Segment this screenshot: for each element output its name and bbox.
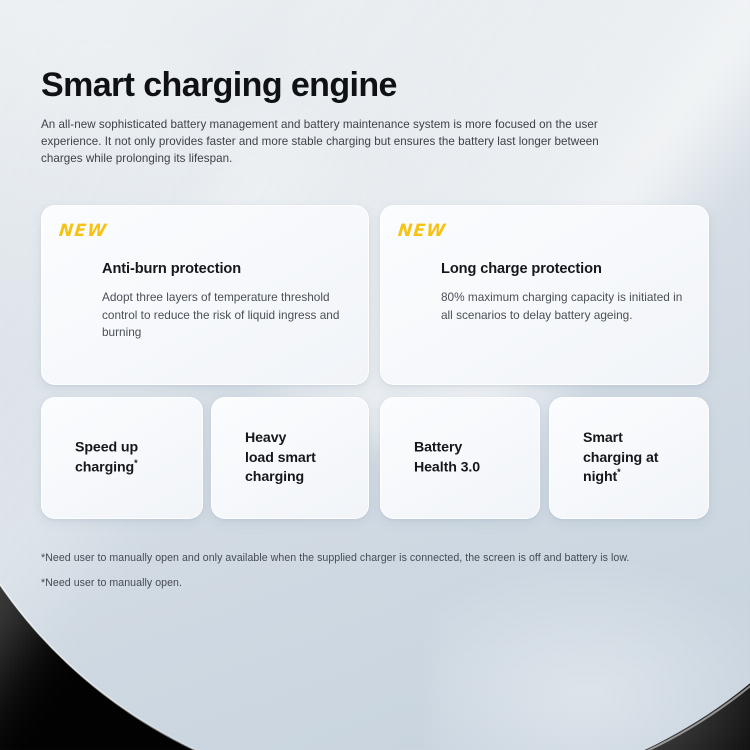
footnote-marker: * (617, 467, 620, 477)
page-intro-text: An all-new sophisticated battery managem… (41, 116, 617, 168)
label-line-3: night (583, 469, 617, 485)
label-line-2: charging (75, 459, 134, 475)
feature-card-label: Smart charging at night* (583, 429, 698, 488)
feature-card-body: 80% maximum charging capacity is initiat… (441, 289, 685, 324)
label-line-1: Smart (583, 430, 623, 446)
footnote-marker: * (134, 457, 137, 467)
feature-card-label: Heavy load smart charging (245, 429, 360, 488)
label-line-1: Heavy (245, 430, 286, 446)
feature-card-smart-charging-at-night[interactable]: Smart charging at night* (549, 397, 709, 519)
label-line-2: load smart (245, 449, 316, 465)
content-layer: Smart charging engine An all-new sophist… (0, 0, 750, 750)
feature-card-label: Battery Health 3.0 (414, 439, 534, 478)
feature-card-anti-burn-protection[interactable]: NEW Anti-burn protection Adopt three lay… (41, 205, 369, 385)
label-line-1: Battery (414, 440, 462, 456)
feature-card-battery-health[interactable]: Battery Health 3.0 (380, 397, 540, 519)
footnote-2: *Need user to manually open. (41, 575, 713, 591)
label-line-2: Health 3.0 (414, 459, 480, 475)
label-line-3: charging (245, 469, 304, 485)
feature-card-title: Anti-burn protection (102, 261, 241, 277)
feature-card-long-charge-protection[interactable]: NEW Long charge protection 80% maximum c… (380, 205, 709, 385)
label-line-1: Speed up (75, 440, 138, 456)
feature-card-speed-up-charging[interactable]: Speed up charging* (41, 397, 203, 519)
new-badge: NEW (58, 221, 108, 241)
footnotes-block: *Need user to manually open and only ava… (41, 550, 713, 601)
slide-root: Smart charging engine An all-new sophist… (0, 0, 750, 750)
page-title: Smart charging engine (41, 66, 397, 104)
new-badge: NEW (397, 221, 447, 241)
feature-card-heavy-load-smart-charging[interactable]: Heavy load smart charging (211, 397, 369, 519)
label-line-2: charging at (583, 449, 658, 465)
feature-card-body: Adopt three layers of temperature thresh… (102, 289, 346, 342)
feature-card-title: Long charge protection (441, 261, 602, 277)
footnote-1: *Need user to manually open and only ava… (41, 550, 713, 566)
feature-card-label: Speed up charging* (75, 439, 195, 478)
